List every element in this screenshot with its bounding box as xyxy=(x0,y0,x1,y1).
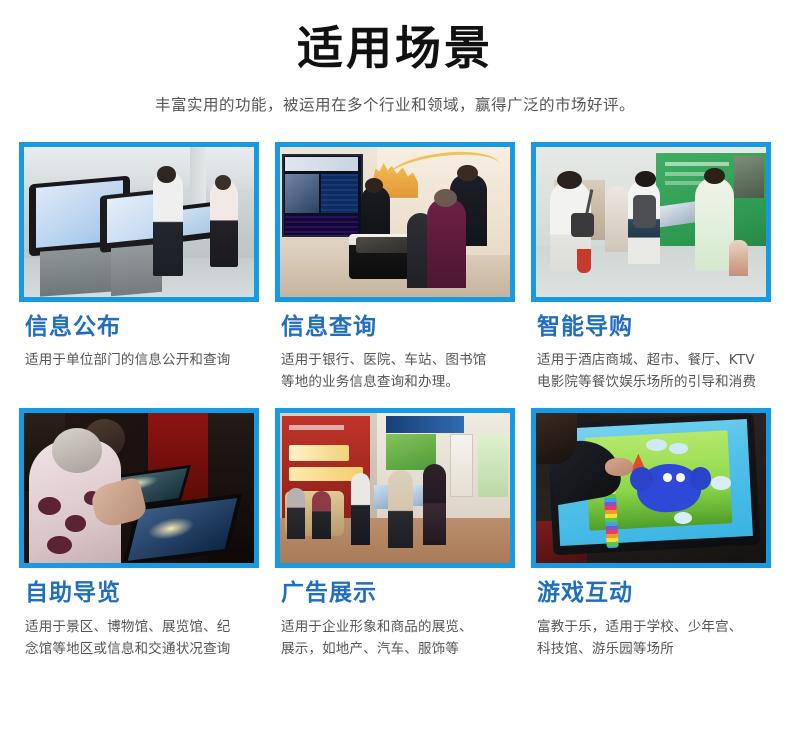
shopping-mall-interactive-wall-photo xyxy=(536,147,766,297)
bank-smart-branch-touch-table-photo xyxy=(280,147,510,297)
exhibition-booth-display-photo xyxy=(280,413,510,563)
page-header: 适用场景 丰富实用的功能，被运用在多个行业和领域，赢得广泛的市场好评。 xyxy=(0,0,790,115)
scenario-title: 信息公布 xyxy=(25,314,259,342)
scenario-thumbnail[interactable] xyxy=(531,142,771,302)
page-subtitle: 丰富实用的功能，被运用在多个行业和领域，赢得广泛的市场好评。 xyxy=(0,93,790,115)
scenario-thumbnail[interactable] xyxy=(19,142,259,302)
children-touch-table-coloring-game-photo xyxy=(536,413,766,563)
scenario-thumbnail[interactable] xyxy=(531,408,771,568)
scenario-title: 信息查询 xyxy=(281,314,515,342)
scenario-card[interactable]: 智能导购 适用于酒店商城、超市、餐厅、KTV 电影院等餐饮娱乐场所的引导和消费 xyxy=(531,142,771,394)
scenario-title: 广告展示 xyxy=(281,580,515,608)
scenario-title: 游戏互动 xyxy=(537,580,771,608)
scenario-thumbnail[interactable] xyxy=(275,408,515,568)
scenario-description: 适用于景区、博物馆、展览馆、纪 念馆等地区或信息和交通状况查询 xyxy=(25,617,259,661)
museum-touch-kiosk-visitors-photo xyxy=(24,413,254,563)
page-title: 适用场景 xyxy=(0,22,790,75)
applicable-scenarios-page: 适用场景 丰富实用的功能，被运用在多个行业和领域，赢得广泛的市场好评。 信息公布… xyxy=(0,0,790,730)
scenario-card[interactable]: 广告展示 适用于企业形象和商品的展览、 展示，如地产、汽车、服饰等 xyxy=(275,408,515,660)
scenario-card[interactable]: 游戏互动 富教于乐，适用于学校、少年宫、 科技馆、游乐园等场所 xyxy=(531,408,771,660)
scenario-description: 富教于乐，适用于学校、少年宫、 科技馆、游乐园等场所 xyxy=(537,617,771,661)
scenario-card-grid: 信息公布 适用于单位部门的信息公开和查询 信息查询 适用于银行、医院、车站、图书… xyxy=(19,142,771,661)
scenario-title: 智能导购 xyxy=(537,314,771,342)
self-service-kiosks-lobby-photo xyxy=(24,147,254,297)
scenario-thumbnail[interactable] xyxy=(19,408,259,568)
scenario-description: 适用于企业形象和商品的展览、 展示，如地产、汽车、服饰等 xyxy=(281,617,515,661)
scenario-card[interactable]: 自助导览 适用于景区、博物馆、展览馆、纪 念馆等地区或信息和交通状况查询 xyxy=(19,408,259,660)
scenario-description: 适用于单位部门的信息公开和查询 xyxy=(25,350,259,372)
scenario-card[interactable]: 信息公布 适用于单位部门的信息公开和查询 xyxy=(19,142,259,394)
scenario-title: 自助导览 xyxy=(25,580,259,608)
scenario-description: 适用于酒店商城、超市、餐厅、KTV 电影院等餐饮娱乐场所的引导和消费 xyxy=(537,350,771,394)
scenario-thumbnail[interactable] xyxy=(275,142,515,302)
scenario-card[interactable]: 信息查询 适用于银行、医院、车站、图书馆 等地的业务信息查询和办理。 xyxy=(275,142,515,394)
scenario-description: 适用于银行、医院、车站、图书馆 等地的业务信息查询和办理。 xyxy=(281,350,515,394)
